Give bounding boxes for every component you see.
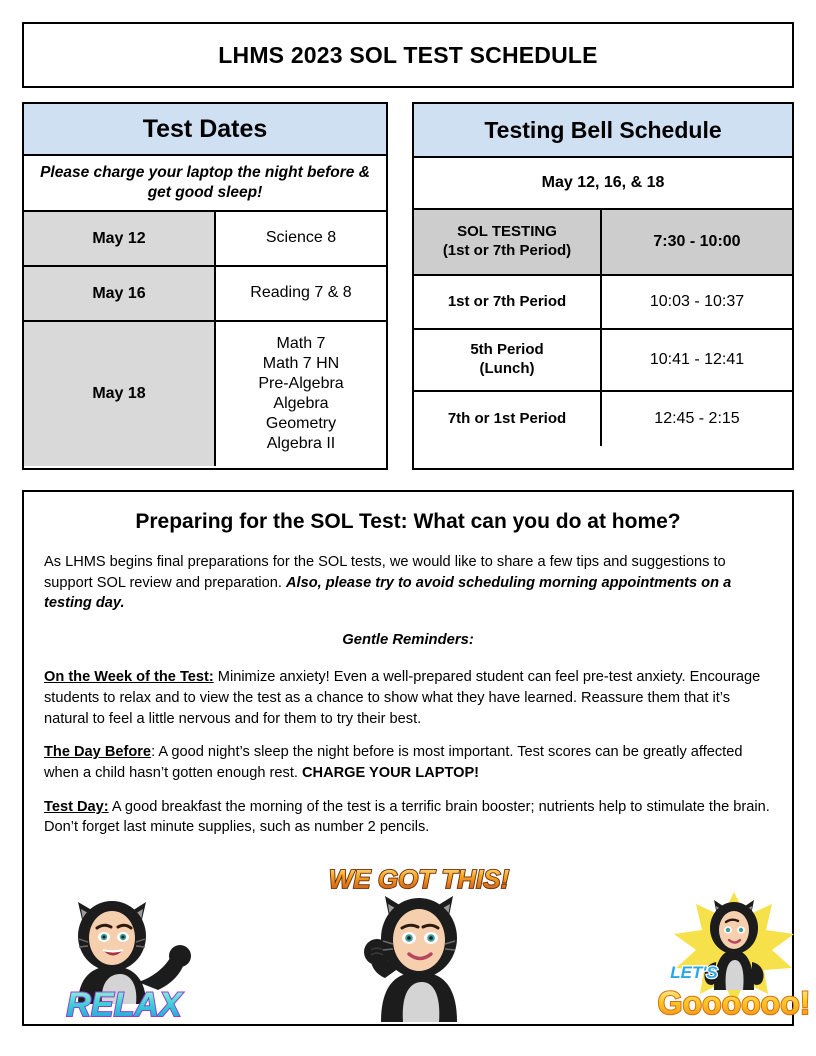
- day-before-paragraph: The Day Before: A good night’s sleep the…: [44, 742, 772, 783]
- test-dates-note: Please charge your laptop the night befo…: [24, 156, 386, 212]
- preparation-panel: Preparing for the SOL Test: What can you…: [22, 490, 794, 1026]
- day-before-label: The Day Before: [44, 744, 151, 760]
- lets-goooo-bitmoji: LET'S Goooooo! LET'S Goooooo!: [654, 882, 814, 1022]
- goooooo-caption: Goooooo!: [658, 985, 811, 1021]
- table-row: 5th Period(Lunch) 10:41 - 12:41: [414, 330, 792, 392]
- test-subject-cell: Science 8: [216, 212, 386, 265]
- period-label-cell: SOL TESTING(1st or 7th Period): [414, 210, 602, 274]
- week-of-test-label: On the Week of the Test:: [44, 669, 214, 685]
- test-day-body: A good breakfast the morning of the test…: [44, 799, 770, 836]
- period-label-cell: 5th Period(Lunch): [414, 330, 602, 390]
- bell-schedule-header: Testing Bell Schedule: [414, 104, 792, 158]
- table-row: 7th or 1st Period 12:45 - 2:15: [414, 392, 792, 446]
- table-row: May 16 Reading 7 & 8: [24, 267, 386, 322]
- table-row: 1st or 7th Period 10:03 - 10:37: [414, 276, 792, 330]
- week-of-test-paragraph: On the Week of the Test: Minimize anxiet…: [44, 667, 772, 729]
- lets-caption: LET'S: [670, 963, 718, 982]
- test-subject-cell: Reading 7 & 8: [216, 267, 386, 320]
- table-row: May 18 Math 7Math 7 HNPre-AlgebraAlgebra…: [24, 322, 386, 466]
- period-label-cell: 7th or 1st Period: [414, 392, 602, 446]
- relax-bitmoji: RELAX RELAX: [34, 882, 214, 1022]
- lets-caption-text: LET'S: [654, 1022, 655, 1023]
- table-row: May 12 Science 8: [24, 212, 386, 267]
- test-subject-cell: Math 7Math 7 HNPre-AlgebraAlgebraGeometr…: [216, 322, 386, 466]
- period-time-cell: 10:03 - 10:37: [602, 276, 792, 328]
- test-day-paragraph: Test Day: A good breakfast the morning o…: [44, 797, 772, 838]
- page-title: LHMS 2023 SOL TEST SCHEDULE: [218, 42, 597, 69]
- we-got-this-caption-text: WE GOT THIS!: [319, 1022, 320, 1023]
- period-label-cell: 1st or 7th Period: [414, 276, 602, 328]
- period-time-cell: 12:45 - 2:15: [602, 392, 792, 446]
- bell-schedule-table: Testing Bell Schedule May 12, 16, & 18 S…: [412, 102, 794, 470]
- we-got-this-caption: WE GOT THIS!: [329, 864, 510, 894]
- test-date-cell: May 16: [24, 267, 216, 320]
- flyer-page: LHMS 2023 SOL TEST SCHEDULE Test Dates P…: [0, 0, 816, 1056]
- goooooo-caption-text: Goooooo!: [654, 1022, 655, 1023]
- bell-schedule-dates: May 12, 16, & 18: [414, 158, 792, 210]
- test-dates-table: Test Dates Please charge your laptop the…: [22, 102, 388, 470]
- gentle-reminders-heading: Gentle Reminders:: [44, 630, 772, 651]
- period-time-cell: 10:41 - 12:41: [602, 330, 792, 390]
- relax-caption: RELAX: [66, 986, 184, 1022]
- test-date-cell: May 18: [24, 322, 216, 466]
- artwork-strip: RELAX RELAX WE GOT THIS!: [24, 856, 792, 1022]
- table-row: SOL TESTING(1st or 7th Period) 7:30 - 10…: [414, 210, 792, 276]
- page-title-box: LHMS 2023 SOL TEST SCHEDULE: [22, 22, 794, 88]
- we-got-this-bitmoji: WE GOT THIS!: [319, 856, 519, 1022]
- test-date-cell: May 12: [24, 212, 216, 265]
- test-dates-header: Test Dates: [24, 104, 386, 156]
- charge-laptop-shout: CHARGE YOUR LAPTOP!: [302, 765, 479, 781]
- preparation-lead-paragraph: As LHMS begins final preparations for th…: [44, 552, 772, 614]
- test-day-label: Test Day:: [44, 799, 109, 815]
- period-time-cell: 7:30 - 10:00: [602, 210, 792, 274]
- relax-caption-text: RELAX: [34, 1022, 35, 1023]
- preparation-title: Preparing for the SOL Test: What can you…: [44, 510, 772, 534]
